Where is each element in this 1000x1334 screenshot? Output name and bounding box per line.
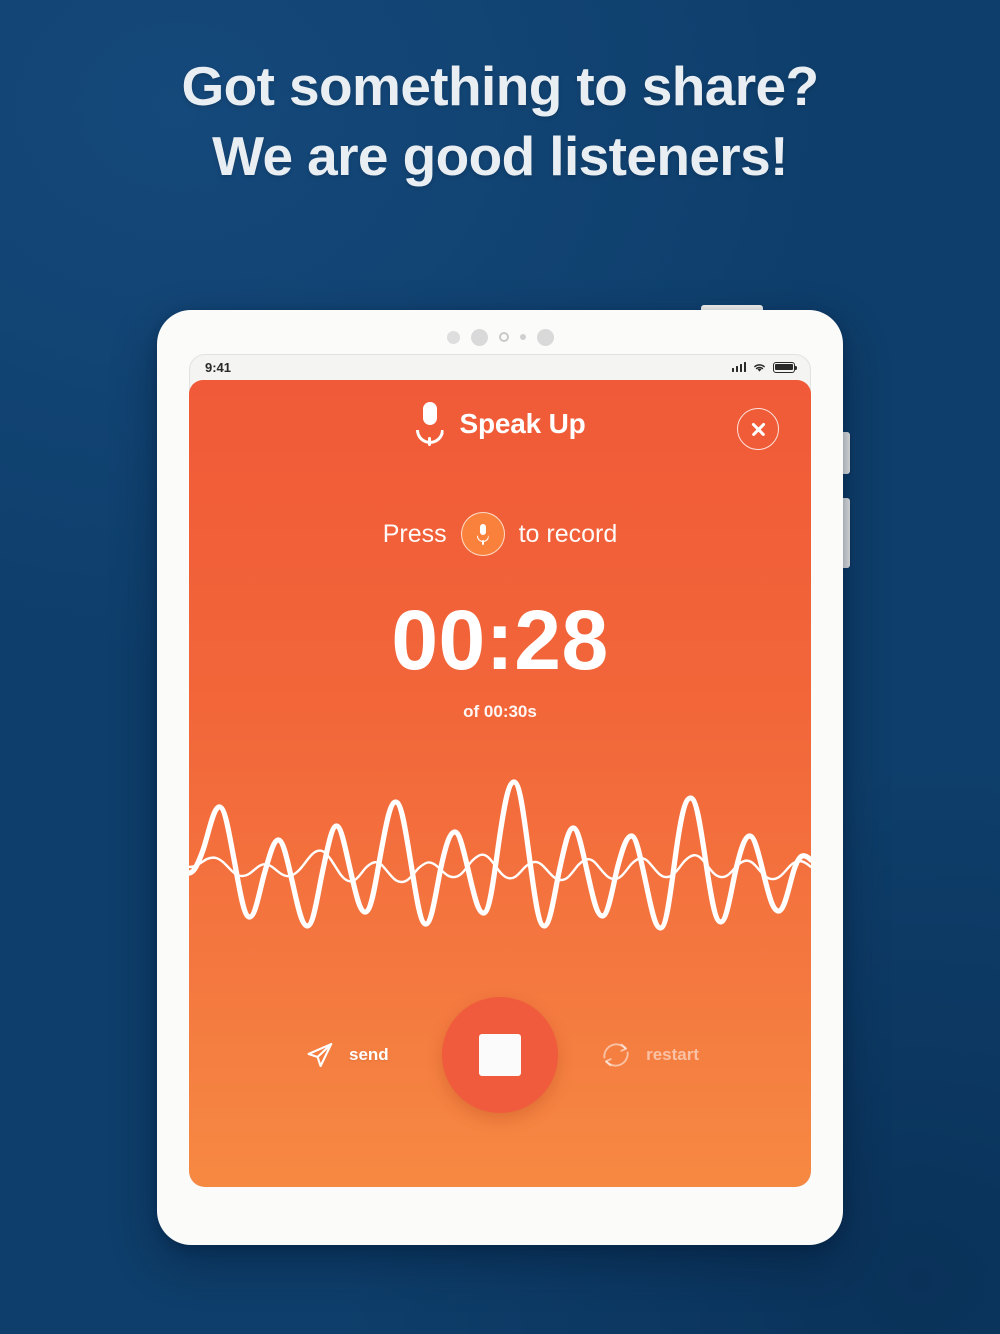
tablet-frame: 9:41 [157, 310, 843, 1245]
headline-line-2: We are good listeners! [0, 122, 1000, 192]
ambient-light-sensor-dot [499, 332, 509, 342]
tablet-mockup: 9:41 [157, 310, 843, 1245]
microphone-icon [415, 402, 445, 446]
headline-line-1: Got something to share? [0, 52, 1000, 122]
battery-icon [773, 362, 795, 373]
send-button[interactable]: send [304, 1039, 389, 1071]
restart-button-label: restart [646, 1045, 699, 1065]
camera-dot [447, 331, 460, 344]
send-plane-icon [304, 1039, 336, 1071]
wifi-icon [752, 362, 767, 373]
stop-recording-button[interactable] [442, 997, 558, 1113]
page-headline: Got something to share? We are good list… [0, 52, 1000, 192]
waveform-secondary-path [189, 851, 811, 882]
status-bar-indicators [732, 362, 796, 373]
app-header: Speak Up [189, 398, 811, 450]
record-prompt: Press to record [189, 512, 811, 556]
record-prompt-after: to record [519, 520, 618, 549]
microphone-icon [477, 524, 489, 545]
camera-dot [471, 329, 488, 346]
close-button[interactable] [737, 408, 779, 450]
tablet-screen: 9:41 [189, 354, 811, 1187]
waveform-primary-path [189, 782, 811, 928]
speak-up-app-card: Speak Up Press to record [189, 380, 811, 1187]
recording-timer: 00:28 [189, 598, 811, 682]
recorder-controls: send restart [189, 985, 811, 1125]
camera-dot [520, 334, 526, 340]
record-mic-button[interactable] [461, 512, 505, 556]
status-bar: 9:41 [189, 354, 811, 380]
record-prompt-before: Press [383, 520, 447, 549]
app-title: Speak Up [460, 408, 586, 440]
send-button-label: send [349, 1045, 389, 1065]
recording-total-duration: of 00:30s [189, 702, 811, 722]
close-icon [750, 421, 767, 438]
status-bar-time: 9:41 [205, 360, 231, 375]
restart-button[interactable]: restart [599, 1038, 699, 1072]
stop-square-icon [479, 1034, 521, 1076]
audio-waveform [189, 740, 811, 990]
restart-circular-arrows-icon [599, 1038, 633, 1072]
front-sensor-array [157, 326, 843, 348]
cellular-signal-icon [732, 362, 747, 372]
camera-dot [537, 329, 554, 346]
